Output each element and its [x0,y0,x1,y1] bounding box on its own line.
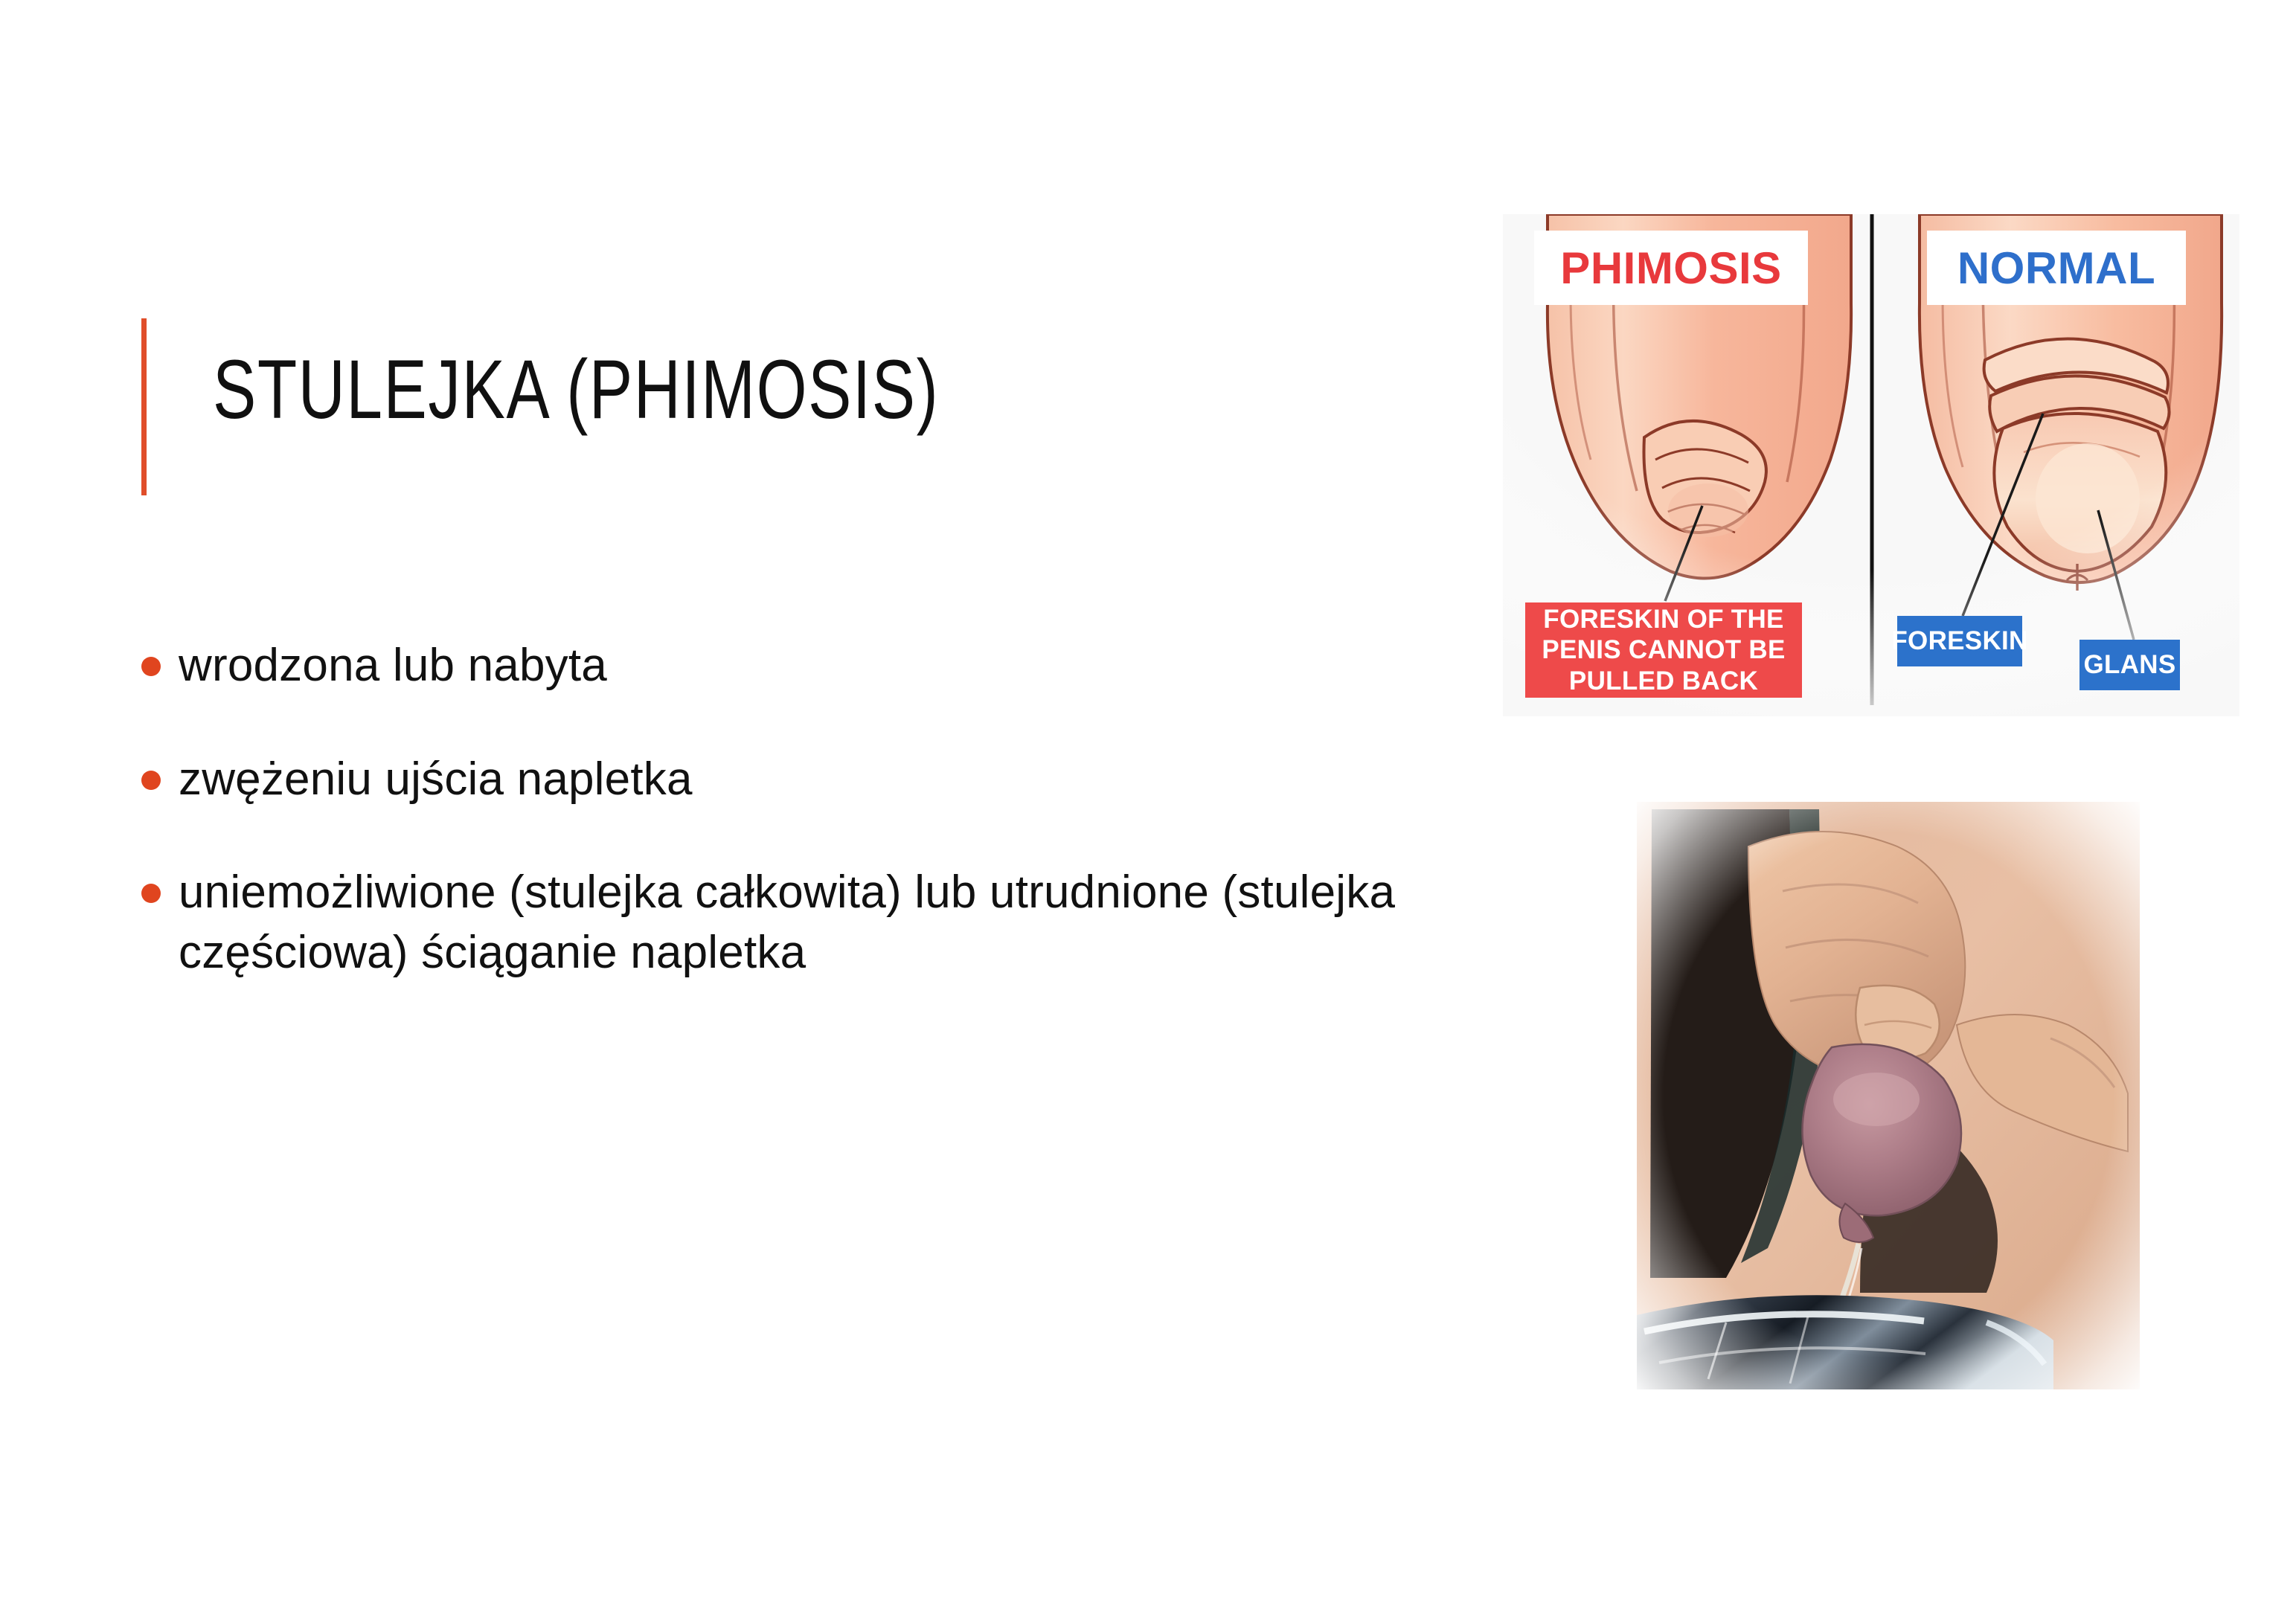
callout-glans: GLANS [2079,640,2180,690]
bullet-dot-icon [141,884,161,903]
list-item: zwężeniu ujścia napletka [132,750,1442,810]
bullet-list: wrodzona lub nabyta zwężeniu ujścia napl… [132,636,1442,983]
slide-canvas: STULEJKA (PHIMOSIS) wrodzona lub nabyta … [0,0,2296,1623]
bullet-text: uniemożliwione (stulejka całkowita) lub … [179,863,1442,983]
callout-foreskin-cannot-retract: FORESKIN OF THE PENIS CANNOT BE PULLED B… [1525,602,1802,698]
bullet-text: wrodzona lub nabyta [179,636,1442,696]
phimosis-comparison-diagram: PHIMOSIS NORMAL FORESKIN OF THE PENIS CA… [1503,214,2239,716]
page-title: STULEJKA (PHIMOSIS) [213,348,939,431]
clinical-photo [1637,802,2140,1389]
list-item: uniemożliwione (stulejka całkowita) lub … [132,863,1442,983]
diagram-label-normal: NORMAL [1927,231,2186,305]
diagram-label-phimosis: PHIMOSIS [1534,231,1808,305]
bullet-dot-icon [141,771,161,790]
bullet-dot-icon [141,657,161,676]
title-accent-bar [141,318,147,495]
callout-foreskin: FORESKIN [1897,616,2022,666]
bullet-text: zwężeniu ujścia napletka [179,750,1442,810]
list-item: wrodzona lub nabyta [132,636,1442,696]
clinical-photo-image [1637,802,2140,1389]
